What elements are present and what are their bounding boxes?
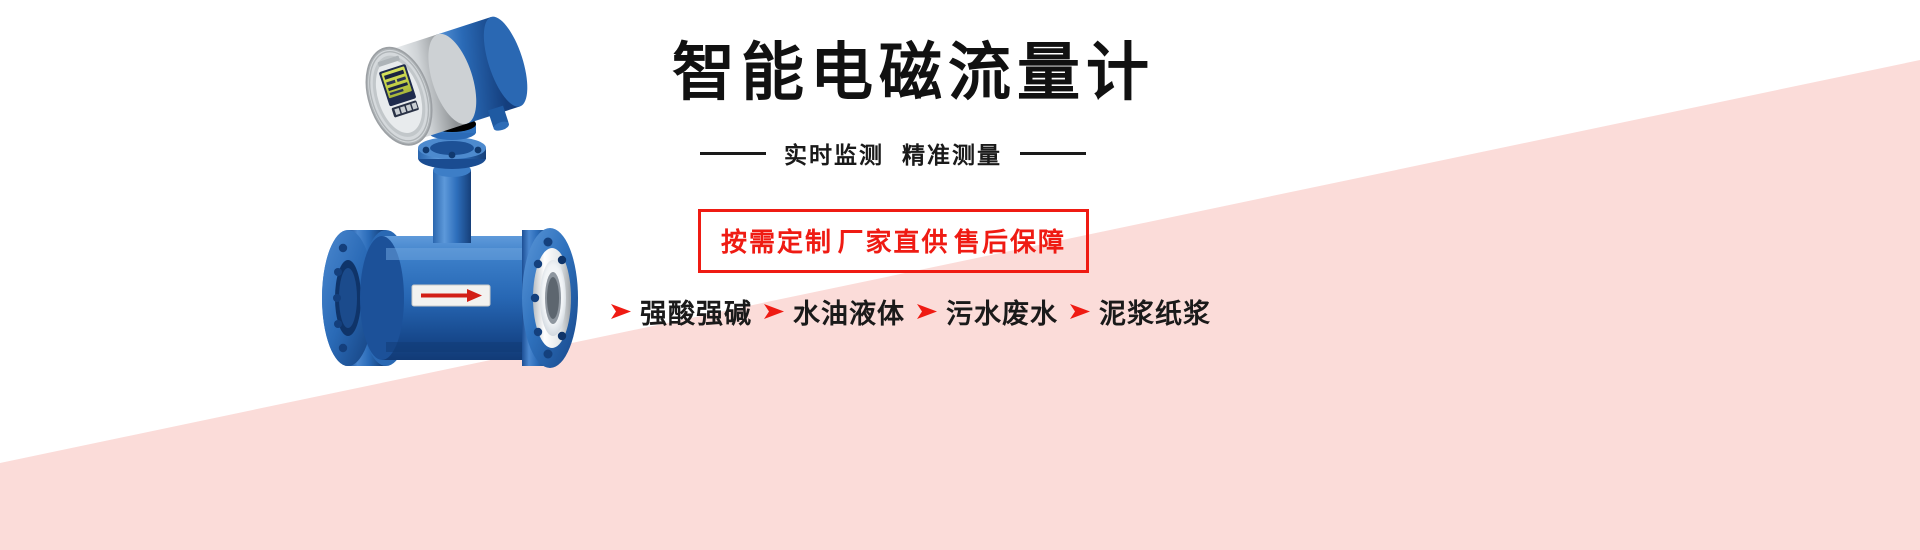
right-arrow-icon [1069,302,1091,321]
promo-item-1: 按需定制 [721,227,833,257]
feature-item-2: 水油液体 [763,292,905,331]
feature-item-3: 污水废水 [916,292,1058,331]
right-flange [522,228,578,368]
feature-list: 强酸强碱 水油液体 污水废水 泥浆纸浆 [610,292,1211,331]
feature-label-2: 水油液体 [793,292,905,331]
feature-item-1: 强酸强碱 [610,292,752,331]
flowmeter-product-image [300,8,630,408]
subtitle-right: 精准测量 [902,136,1002,170]
promo-item-2: 厂家直供 [837,227,949,257]
feature-label-3: 污水废水 [946,292,1058,331]
right-arrow-icon [610,302,632,321]
promo-badge-box: 按需定制 厂家直供 售后保障 [698,209,1089,273]
promo-item-3: 售后保障 [954,227,1066,257]
flowmeter-body [360,236,526,360]
product-banner: 智能电磁流量计 实时监测 精准测量 按需定制 厂家直供 售后保障 强酸强碱 [0,0,1920,550]
page-title: 智能电磁流量计 [672,42,1155,105]
subtitle-left: 实时监测 [784,136,884,170]
feature-label-1: 强酸强碱 [640,292,752,331]
right-arrow-icon [916,302,938,321]
feature-label-4: 泥浆纸浆 [1099,292,1211,331]
right-arrow-icon [763,302,785,321]
subtitle-rule-right [1020,152,1086,155]
subtitle-rule-left [700,152,766,155]
banner-text-column: 智能电磁流量计 实时监测 精准测量 按需定制 厂家直供 售后保障 强酸强碱 [600,0,1300,550]
feature-item-4: 泥浆纸浆 [1069,292,1211,331]
subtitle-row: 实时监测 精准测量 [700,136,1086,170]
